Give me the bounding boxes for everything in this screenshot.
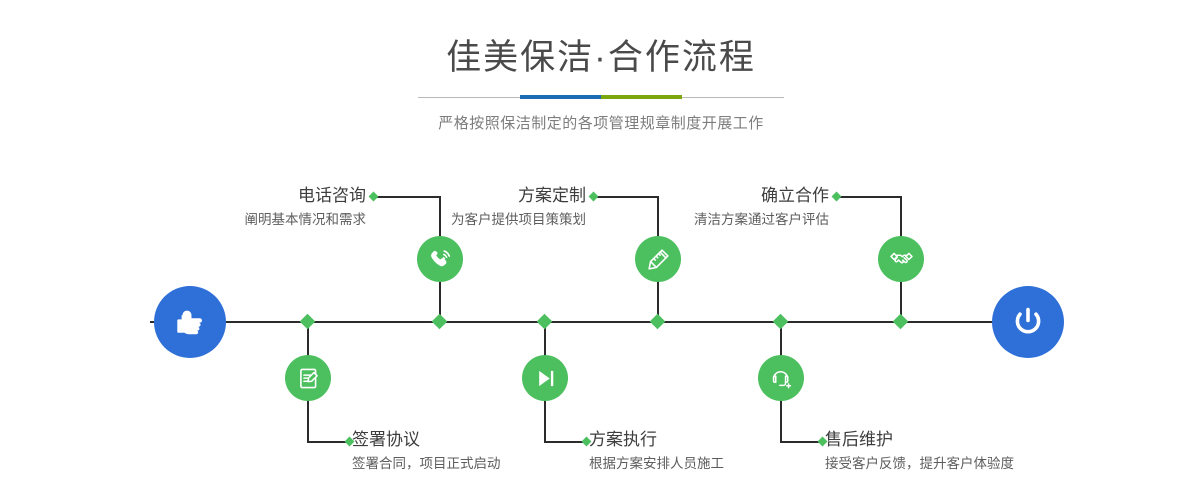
timeline-start-node[interactable] [154,286,226,358]
connector-tip-step-5 [832,192,842,202]
step-desc-3: 为客户提供项目策策划 [420,206,586,229]
connector-leader-step-2 [307,441,349,443]
step-node-3[interactable] [635,236,681,282]
connector-leader-step-3 [595,196,659,198]
pencil-ruler-icon [645,246,672,273]
timeline: 电话咨询 阐明基本情况和需求 签署协议 签署合同，项目正式启动 [0,0,1202,502]
step-desc-6: 接受客户反馈，提升客户体验度 [825,450,1075,473]
step-node-4[interactable] [522,355,568,401]
step-node-5[interactable] [878,236,924,282]
step-title-5: 确立合作 [662,186,829,206]
play-skip-icon [532,365,559,392]
step-label-4: 方案执行 根据方案安排人员施工 [589,430,819,473]
step-title-1: 电话咨询 [199,186,366,206]
headset-support-icon [768,365,795,392]
step-node-1[interactable] [417,236,463,282]
axis-diamond-step-2 [300,314,316,330]
process-flow-infographic: 佳美保洁·合作流程 严格按照保洁制定的各项管理规章制度开展工作 [0,0,1202,502]
step-title-2: 签署协议 [352,430,582,450]
pointing-hand-icon [170,302,210,342]
step-label-5: 确立合作 清洁方案通过客户评估 [662,186,829,229]
step-node-2[interactable] [285,355,331,401]
axis-diamond-step-3 [650,314,666,330]
timeline-axis [150,321,1052,323]
connector-tip-step-1 [369,192,379,202]
axis-diamond-step-1 [432,314,448,330]
handshake-icon [888,246,915,273]
axis-diamond-step-6 [773,314,789,330]
step-desc-2: 签署合同，项目正式启动 [352,450,582,473]
step-desc-1: 阐明基本情况和需求 [199,206,366,229]
step-desc-5: 清洁方案通过客户评估 [662,206,829,229]
axis-diamond-step-5 [893,314,909,330]
phone-call-icon [427,246,454,273]
step-node-6[interactable] [758,355,804,401]
step-title-6: 售后维护 [825,430,1075,450]
step-label-3: 方案定制 为客户提供项目策策划 [420,186,586,229]
step-title-3: 方案定制 [420,186,586,206]
axis-diamond-step-4 [537,314,553,330]
document-edit-icon [295,365,322,392]
step-desc-4: 根据方案安排人员施工 [589,450,819,473]
timeline-end-node[interactable] [992,286,1064,358]
step-label-1: 电话咨询 阐明基本情况和需求 [199,186,366,229]
power-icon [1008,302,1048,342]
step-label-2: 签署协议 签署合同，项目正式启动 [352,430,582,473]
step-label-6: 售后维护 接受客户反馈，提升客户体验度 [825,430,1075,473]
step-title-4: 方案执行 [589,430,819,450]
connector-tip-step-3 [589,192,599,202]
connector-leader-step-5 [838,196,902,198]
